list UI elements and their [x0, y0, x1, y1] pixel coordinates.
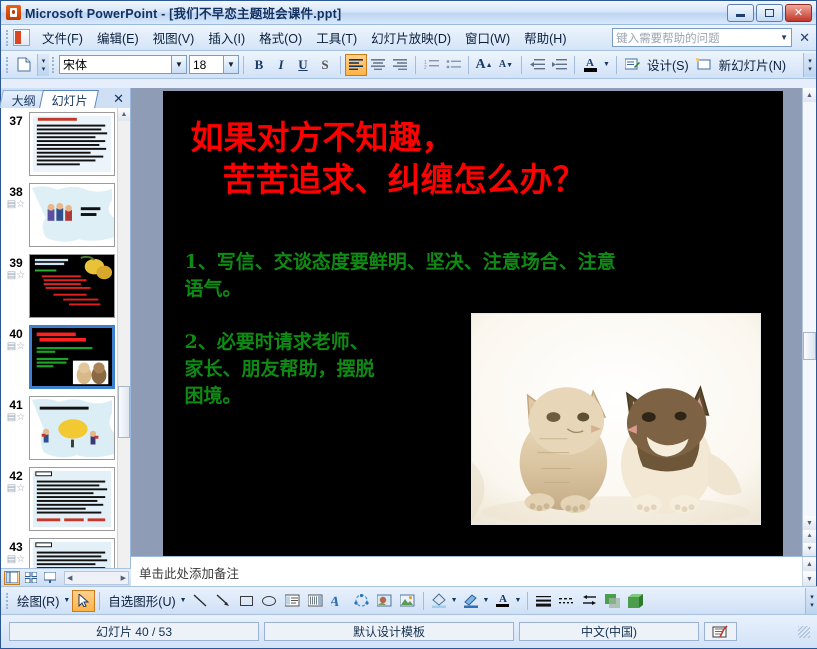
clipart-icon[interactable]: [373, 590, 396, 612]
chevron-down-icon[interactable]: ▼: [483, 597, 492, 604]
picture-icon[interactable]: [396, 590, 419, 612]
separator: [468, 56, 469, 74]
resize-grip[interactable]: [798, 626, 810, 638]
underline-button[interactable]: U: [292, 54, 314, 76]
status-design-template[interactable]: 默认设计模板: [264, 622, 514, 641]
slide-thumbnail-list: 37: [1, 108, 130, 586]
drawing-toolbar: 绘图(R) ▼ 自选图形(U) ▼ A: [1, 586, 817, 614]
next-slide-button[interactable]: ⯆: [803, 543, 816, 556]
kitten-left: [519, 387, 606, 513]
wordart-icon[interactable]: A: [327, 590, 350, 612]
chevron-down-icon[interactable]: ▼: [223, 56, 238, 73]
scroll-up-icon[interactable]: ▲: [803, 557, 816, 571]
ask-a-question-input[interactable]: 键入需要帮助的问题 ▼: [612, 28, 792, 47]
list-item[interactable]: 38 ▤☆: [3, 183, 115, 247]
slide-number: 38: [3, 185, 29, 199]
align-right-icon[interactable]: [389, 54, 411, 76]
menu-format[interactable]: 格式(O): [252, 25, 309, 50]
thumbnail-42[interactable]: [29, 467, 115, 531]
dash-style-icon[interactable]: [555, 590, 578, 612]
thumbnail-scrollbar[interactable]: ▲ ▼: [117, 108, 130, 586]
scroll-right-icon[interactable]: ▶: [121, 574, 126, 582]
thumbnail-37[interactable]: [29, 112, 115, 176]
window-title: Microsoft PowerPoint - [我们不早恋主题班会课件.ppt]: [25, 3, 341, 22]
pane-tabs: 大纲 幻灯片 ✕: [1, 88, 130, 108]
scroll-down-icon[interactable]: ▼: [803, 572, 816, 586]
thumb-meta: 38 ▤☆: [3, 183, 29, 247]
thumbnail-horizontal-scrollbar[interactable]: ◀ ▶: [64, 571, 129, 585]
separator: [243, 56, 244, 74]
thumbnail-41[interactable]: [29, 396, 115, 460]
animation-icon: ▤☆: [3, 554, 29, 566]
two-kittens-photo[interactable]: [471, 313, 761, 525]
font-name-value: 宋体: [63, 56, 87, 73]
design-button[interactable]: 设计(S): [643, 53, 693, 76]
font-name-combo[interactable]: 宋体 ▼: [59, 55, 187, 74]
slide-bullet-1[interactable]: 1、写信、交谈态度要鲜明、坚决、注意场合、注意 语气。: [185, 249, 743, 303]
chevron-down-icon[interactable]: ▼: [171, 56, 186, 73]
scroll-up-icon[interactable]: ▲: [118, 108, 130, 121]
align-left-icon[interactable]: [345, 54, 367, 76]
bullet-1-line-2: 语气。: [185, 276, 743, 303]
numbered-list-icon[interactable]: 12: [420, 54, 442, 76]
thumb-meta: 40 ▤☆: [3, 325, 29, 389]
separator: [616, 56, 617, 74]
scroll-track[interactable]: [803, 571, 816, 572]
list-item[interactable]: 42 ▤☆: [3, 467, 115, 531]
bold-button[interactable]: B: [248, 54, 270, 76]
line-style-icon[interactable]: [532, 590, 555, 612]
menu-view[interactable]: 视图(V): [146, 25, 202, 50]
document-icon: [13, 29, 30, 46]
slide-number: 41: [3, 398, 29, 412]
decrease-indent-icon[interactable]: [526, 54, 548, 76]
menu-bar: 文件(F) 编辑(E) 视图(V) 插入(I) 格式(O) 工具(T) 幻灯片放…: [1, 25, 816, 51]
separator: [527, 592, 528, 610]
new-slide-button[interactable]: 新幻灯片(N): [715, 53, 790, 76]
menu-window[interactable]: 窗口(W): [458, 25, 517, 50]
scroll-down-icon[interactable]: ▼: [803, 516, 816, 530]
menu-grip[interactable]: [6, 30, 10, 46]
drawbar-overflow[interactable]: ▾▾: [805, 588, 817, 614]
list-item[interactable]: 41 ▤☆: [3, 396, 115, 460]
animation-icon: ▤☆: [3, 483, 29, 495]
spell-check-icon[interactable]: [704, 622, 737, 641]
arrow-select-icon[interactable]: [72, 590, 95, 612]
thumb-meta: 41 ▤☆: [3, 396, 29, 460]
arrow-icon[interactable]: [212, 590, 235, 612]
scroll-thumb[interactable]: [803, 332, 816, 360]
tab-outline-label: 大纲: [12, 92, 36, 109]
line-icon[interactable]: [189, 590, 212, 612]
chevron-down-icon[interactable]: ▼: [451, 597, 460, 604]
slide-editing-pane: 如果对方不知趣， 苦苦追求、纠缠怎么办？ 1、写信、交谈态度要鲜明、坚决、注意场…: [131, 88, 816, 586]
slide-title-line-1: 如果对方不知趣，: [191, 117, 767, 159]
align-center-icon[interactable]: [367, 54, 389, 76]
draw-menu-button[interactable]: 绘图(R): [13, 589, 63, 612]
thumbnail-40[interactable]: [29, 325, 115, 389]
increase-font-size-button[interactable]: A▲: [473, 54, 495, 76]
menu-slideshow[interactable]: 幻灯片放映(D): [364, 25, 458, 50]
status-slide-counter: 幻灯片 40 / 53: [9, 622, 259, 641]
italic-button[interactable]: I: [270, 54, 292, 76]
scroll-up-icon[interactable]: ▲: [803, 88, 816, 102]
separator: [574, 56, 575, 74]
list-item[interactable]: 37: [3, 112, 115, 176]
slide-canvas[interactable]: 如果对方不知趣， 苦苦追求、纠缠怎么办？ 1、写信、交谈态度要鲜明、坚决、注意场…: [163, 91, 783, 556]
slide-bullet-2[interactable]: 2、必要时请求老师、 家长、朋友帮助，摆脱 困境。: [185, 329, 455, 410]
status-language[interactable]: 中文(中国): [519, 622, 699, 641]
bullet-2-line-3: 困境。: [185, 383, 455, 410]
slide-show-icon[interactable]: [42, 571, 58, 585]
diagram-icon[interactable]: [350, 590, 373, 612]
rectangle-icon[interactable]: [235, 590, 258, 612]
vertical-textbox-icon[interactable]: [304, 590, 327, 612]
toolbar-overflow-2[interactable]: ▾▾: [803, 53, 816, 77]
animation-icon: ▤☆: [3, 270, 29, 282]
slide-scroll-region: 如果对方不知趣， 苦苦追求、纠缠怎么办？ 1、写信、交谈态度要鲜明、坚决、注意场…: [131, 88, 816, 556]
font-size-combo[interactable]: 18 ▼: [189, 55, 239, 74]
slide-title[interactable]: 如果对方不知趣， 苦苦追求、纠缠怎么办？: [191, 117, 767, 201]
decrease-font-size-button[interactable]: A▼: [495, 54, 517, 76]
separator: [340, 56, 341, 74]
scroll-thumb[interactable]: [118, 386, 130, 438]
menu-file[interactable]: 文件(F): [35, 25, 90, 50]
fill-color-icon[interactable]: [428, 590, 451, 612]
powerpoint-window: Microsoft PowerPoint - [我们不早恋主题班会课件.ppt]…: [0, 0, 817, 649]
notes-scrollbar[interactable]: ▲ ▼: [802, 557, 816, 586]
slide-number: 37: [3, 114, 29, 128]
slide-number: 39: [3, 256, 29, 270]
textbox-icon[interactable]: [281, 590, 304, 612]
thumbnail-39[interactable]: [29, 254, 115, 318]
tab-slides[interactable]: 幻灯片: [39, 90, 99, 108]
minimize-button[interactable]: [727, 4, 754, 22]
text-shadow-button[interactable]: S: [314, 54, 336, 76]
menu-insert[interactable]: 插入(I): [201, 25, 252, 50]
animation-icon: ▤☆: [3, 199, 29, 211]
menu-help[interactable]: 帮助(H): [517, 25, 573, 50]
toolbar-grip-1[interactable]: [6, 57, 10, 73]
animation-icon: ▤☆: [3, 341, 29, 353]
chevron-down-icon[interactable]: ▼: [180, 597, 189, 604]
scroll-left-icon[interactable]: ◀: [67, 574, 72, 582]
font-color-icon[interactable]: A: [579, 54, 601, 76]
new-slide-icon[interactable]: [693, 54, 715, 76]
bulleted-list-icon[interactable]: [442, 54, 464, 76]
font-size-value: 18: [193, 58, 206, 72]
separator: [423, 592, 424, 610]
thumbnail-38[interactable]: [29, 183, 115, 247]
oval-icon[interactable]: [258, 590, 281, 612]
view-buttons-bar: ◀ ▶: [1, 568, 131, 586]
autoshapes-button[interactable]: 自选图形(U): [104, 589, 179, 612]
ask-placeholder: 键入需要帮助的问题: [616, 30, 720, 46]
separator: [99, 592, 100, 610]
previous-slide-button[interactable]: ⯅: [803, 530, 816, 543]
bullet-2-line-2: 家长、朋友帮助，摆脱: [185, 356, 455, 383]
tab-slides-label: 幻灯片: [52, 92, 88, 109]
title-bar: Microsoft PowerPoint - [我们不早恋主题班会课件.ppt]…: [1, 1, 816, 25]
chevron-down-icon[interactable]: ▼: [780, 33, 788, 42]
slide-number: 43: [3, 540, 29, 554]
chevron-down-icon[interactable]: ▼: [514, 597, 523, 604]
toolbar-grip-2[interactable]: [52, 57, 56, 73]
slide-vertical-scrollbar[interactable]: ▲ ▼ ⯅ ⯆: [802, 88, 816, 556]
slide-sorter-icon[interactable]: [23, 571, 39, 585]
increase-indent-icon[interactable]: [548, 54, 570, 76]
animation-icon: ▤☆: [3, 412, 29, 424]
slide-number: 40: [3, 327, 29, 341]
list-item-selected[interactable]: 40 ▤☆: [3, 325, 115, 389]
close-button[interactable]: ✕: [785, 4, 812, 22]
status-bar: 幻灯片 40 / 53 默认设计模板 中文(中国): [1, 614, 817, 648]
powerpoint-icon: [6, 5, 21, 20]
window-controls: ✕: [727, 4, 814, 22]
toolbar-overflow-1[interactable]: ▾▾: [37, 54, 49, 76]
slide-title-line-2: 苦苦追求、纠缠怎么办？: [191, 159, 767, 201]
drawbar-grip[interactable]: [6, 593, 10, 609]
slide-canvas-wrap: 如果对方不知趣， 苦苦追求、纠缠怎么办？ 1、写信、交谈态度要鲜明、坚决、注意场…: [131, 88, 802, 556]
separator: [521, 56, 522, 74]
chevron-down-icon[interactable]: ▼: [63, 597, 72, 604]
svg-text:A: A: [331, 594, 342, 608]
work-area: 大纲 幻灯片 ✕ 37: [1, 88, 816, 586]
close-pane-icon[interactable]: ✕: [109, 91, 130, 108]
list-item[interactable]: 39 ▤☆: [3, 254, 115, 318]
3d-style-icon[interactable]: [624, 590, 647, 612]
arrow-style-icon[interactable]: [578, 590, 601, 612]
separator: [415, 56, 416, 74]
slides-outline-pane: 大纲 幻灯片 ✕ 37: [1, 88, 131, 586]
notes-pane[interactable]: 单击此处添加备注 ▲ ▼: [131, 556, 816, 586]
svg-text:2: 2: [424, 65, 427, 70]
font-color-dropdown-icon[interactable]: ▼: [601, 54, 612, 76]
thumb-meta: 39 ▤☆: [3, 254, 29, 318]
design-icon[interactable]: [621, 54, 643, 76]
thumb-meta: 42 ▤☆: [3, 467, 29, 531]
menu-tools[interactable]: 工具(T): [309, 25, 364, 50]
formatting-toolbar: ▾▾ 宋体 ▼ 18 ▼ B I U S 12: [1, 51, 816, 79]
new-document-icon[interactable]: [13, 54, 35, 76]
menu-edit[interactable]: 编辑(E): [90, 25, 146, 50]
scroll-track[interactable]: [803, 102, 816, 516]
font-color-icon[interactable]: A: [491, 590, 514, 612]
bullet-1-line-1: 1、写信、交谈态度要鲜明、坚决、注意场合、注意: [185, 249, 743, 276]
thumbnails: 37: [1, 108, 117, 586]
thumb-meta: 37: [3, 112, 29, 176]
notes-placeholder[interactable]: 单击此处添加备注: [131, 557, 802, 586]
scroll-track[interactable]: [118, 121, 130, 573]
close-menubar-icon[interactable]: ✕: [792, 30, 816, 46]
maximize-button[interactable]: [756, 4, 783, 22]
shadow-style-icon[interactable]: [601, 590, 624, 612]
normal-view-icon[interactable]: [4, 571, 20, 585]
bullet-2-line-1: 2、必要时请求老师、: [185, 329, 455, 356]
line-color-icon[interactable]: [460, 590, 483, 612]
slide-number: 42: [3, 469, 29, 483]
